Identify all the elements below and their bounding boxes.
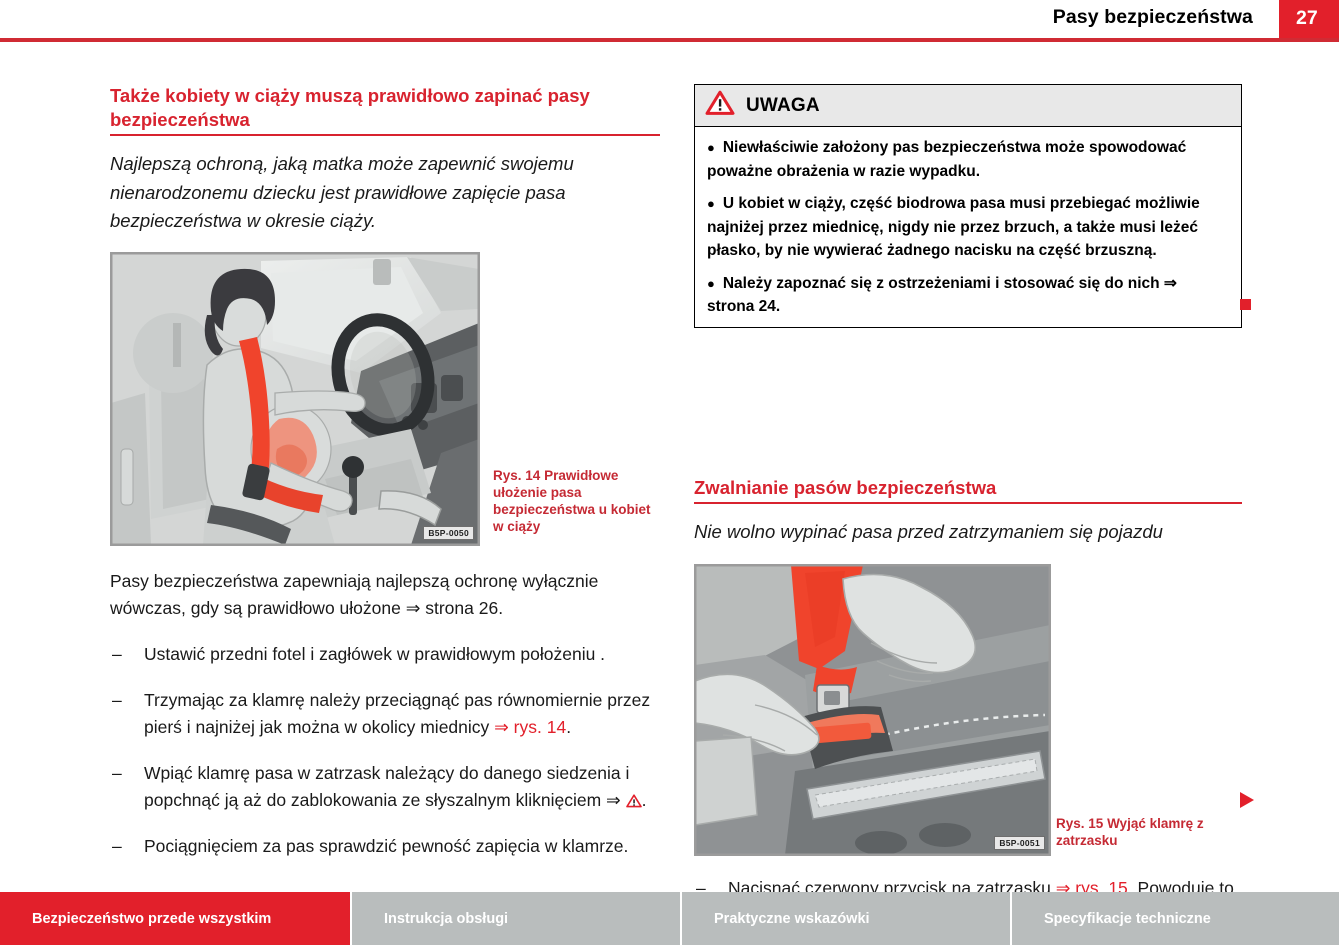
- figure-15-caption-label: Rys. 15: [1056, 816, 1103, 831]
- figure-14-caption-label: Rys. 14: [493, 468, 540, 483]
- footer-tab-specs[interactable]: Specyfikacje techniczne: [1010, 892, 1339, 945]
- warning-box-title: UWAGA: [746, 95, 820, 117]
- list-item: – Pociągnięciem za pas sprawdzić pewność…: [110, 833, 660, 860]
- list-item: – Ustawić przedni fotel i zagłówek w pra…: [110, 641, 660, 668]
- warning-bullet: ●Należy zapoznać się z ostrzeżeniami i s…: [707, 272, 1227, 319]
- figure-15-caption: Rys. 15 Wyjąć klamrę z zatrzasku: [1056, 815, 1238, 849]
- header-divider: [0, 38, 1339, 42]
- dash-marker: –: [112, 833, 122, 860]
- warning-bullet-text: Niewłaściwie założony pas bezpieczeństwa…: [707, 139, 1186, 180]
- left-column: Także kobiety w ciąży muszą prawidłowo z…: [110, 84, 660, 860]
- figure-15-image: B5P-0051: [694, 564, 1051, 856]
- warning-triangle-icon: [626, 789, 642, 803]
- list-item: – Trzymając za klamrę należy przeciągnąć…: [110, 687, 660, 741]
- left-intro-text: Najlepszą ochroną, jaką matka może zapew…: [110, 150, 660, 236]
- cross-reference-link[interactable]: ⇒ rys. 14: [494, 717, 566, 737]
- list-item-text: Wpiąć klamrę pasa w zatrzask należący do…: [144, 763, 629, 810]
- right-column: UWAGA ●Niewłaściwie założony pas bezpiec…: [694, 84, 1242, 929]
- belt-release-illustration: [695, 565, 1050, 855]
- figure-14-caption: Rys. 14 Prawidłowe ułożenie pasa bezpiec…: [493, 467, 661, 535]
- figure-14-code: B5P-0050: [423, 526, 474, 540]
- list-item-text: Pociągnięciem za pas sprawdzić pewność z…: [144, 836, 628, 856]
- footer-tab-label: Instrukcja obsługi: [384, 911, 508, 927]
- footer-tab-label: Praktyczne wskazówki: [714, 911, 870, 927]
- footer-tab-tips[interactable]: Praktyczne wskazówki: [680, 892, 1010, 945]
- warning-box-header: UWAGA: [695, 85, 1241, 127]
- footer-nav: Bezpieczeństwo przede wszystkim Instrukc…: [0, 892, 1339, 945]
- warning-bullet-text: Należy zapoznać się z ostrzeżeniami i st…: [707, 275, 1177, 316]
- warning-bullet: ●U kobiet w ciąży, część biodrowa pasa m…: [707, 192, 1227, 263]
- page-title: Pasy bezpieczeństwa: [1053, 6, 1253, 29]
- figure-15-code: B5P-0051: [994, 836, 1045, 850]
- warning-triangle-icon: [705, 90, 735, 121]
- left-section-heading: Także kobiety w ciąży muszą prawidłowo z…: [110, 84, 660, 136]
- list-item-tail: .: [642, 790, 647, 810]
- bullet-dot-icon: ●: [707, 196, 715, 211]
- right-intro-text: Nie wolno wypinać pasa przed zatrzymanie…: [694, 518, 1242, 547]
- dash-marker: –: [112, 760, 122, 787]
- warning-bullet: ●Niewłaściwie założony pas bezpieczeństw…: [707, 136, 1227, 183]
- footer-tab-safety[interactable]: Bezpieczeństwo przede wszystkim: [0, 892, 350, 945]
- warning-bullet-text: U kobiet w ciąży, część biodrowa pasa mu…: [707, 195, 1200, 259]
- red-square-marker: [1240, 299, 1251, 310]
- dash-marker: –: [112, 687, 122, 714]
- footer-tab-label: Bezpieczeństwo przede wszystkim: [32, 911, 271, 927]
- bullet-dot-icon: ●: [707, 276, 715, 291]
- pregnant-driver-illustration: [111, 253, 479, 545]
- left-steps-list: – Ustawić przedni fotel i zagłówek w pra…: [110, 641, 660, 860]
- page-number-badge: 27: [1279, 0, 1339, 38]
- warning-box-body: ●Niewłaściwie założony pas bezpieczeństw…: [695, 127, 1241, 327]
- list-item-text: Ustawić przedni fotel i zagłówek w prawi…: [144, 644, 605, 664]
- list-item-text: Trzymając za klamrę należy przeciągnąć p…: [144, 690, 650, 737]
- footer-tab-label: Specyfikacje techniczne: [1044, 911, 1211, 927]
- left-paragraph: Pasy bezpieczeństwa zapewniają najlepszą…: [110, 568, 660, 622]
- list-item-tail: .: [566, 717, 571, 737]
- dash-marker: –: [112, 641, 122, 668]
- page-header: Pasy bezpieczeństwa 27: [0, 0, 1339, 42]
- red-triangle-marker: [1240, 792, 1254, 808]
- bullet-dot-icon: ●: [707, 140, 715, 155]
- figure-14-image: B5P-0050: [110, 252, 480, 546]
- page-number: 27: [1296, 7, 1318, 30]
- right-section-heading: Zwalnianie pasów bezpieczeństwa: [694, 476, 1242, 504]
- warning-box: UWAGA ●Niewłaściwie założony pas bezpiec…: [694, 84, 1242, 328]
- footer-tab-manual[interactable]: Instrukcja obsługi: [350, 892, 680, 945]
- list-item: – Wpiąć klamrę pasa w zatrzask należący …: [110, 760, 660, 814]
